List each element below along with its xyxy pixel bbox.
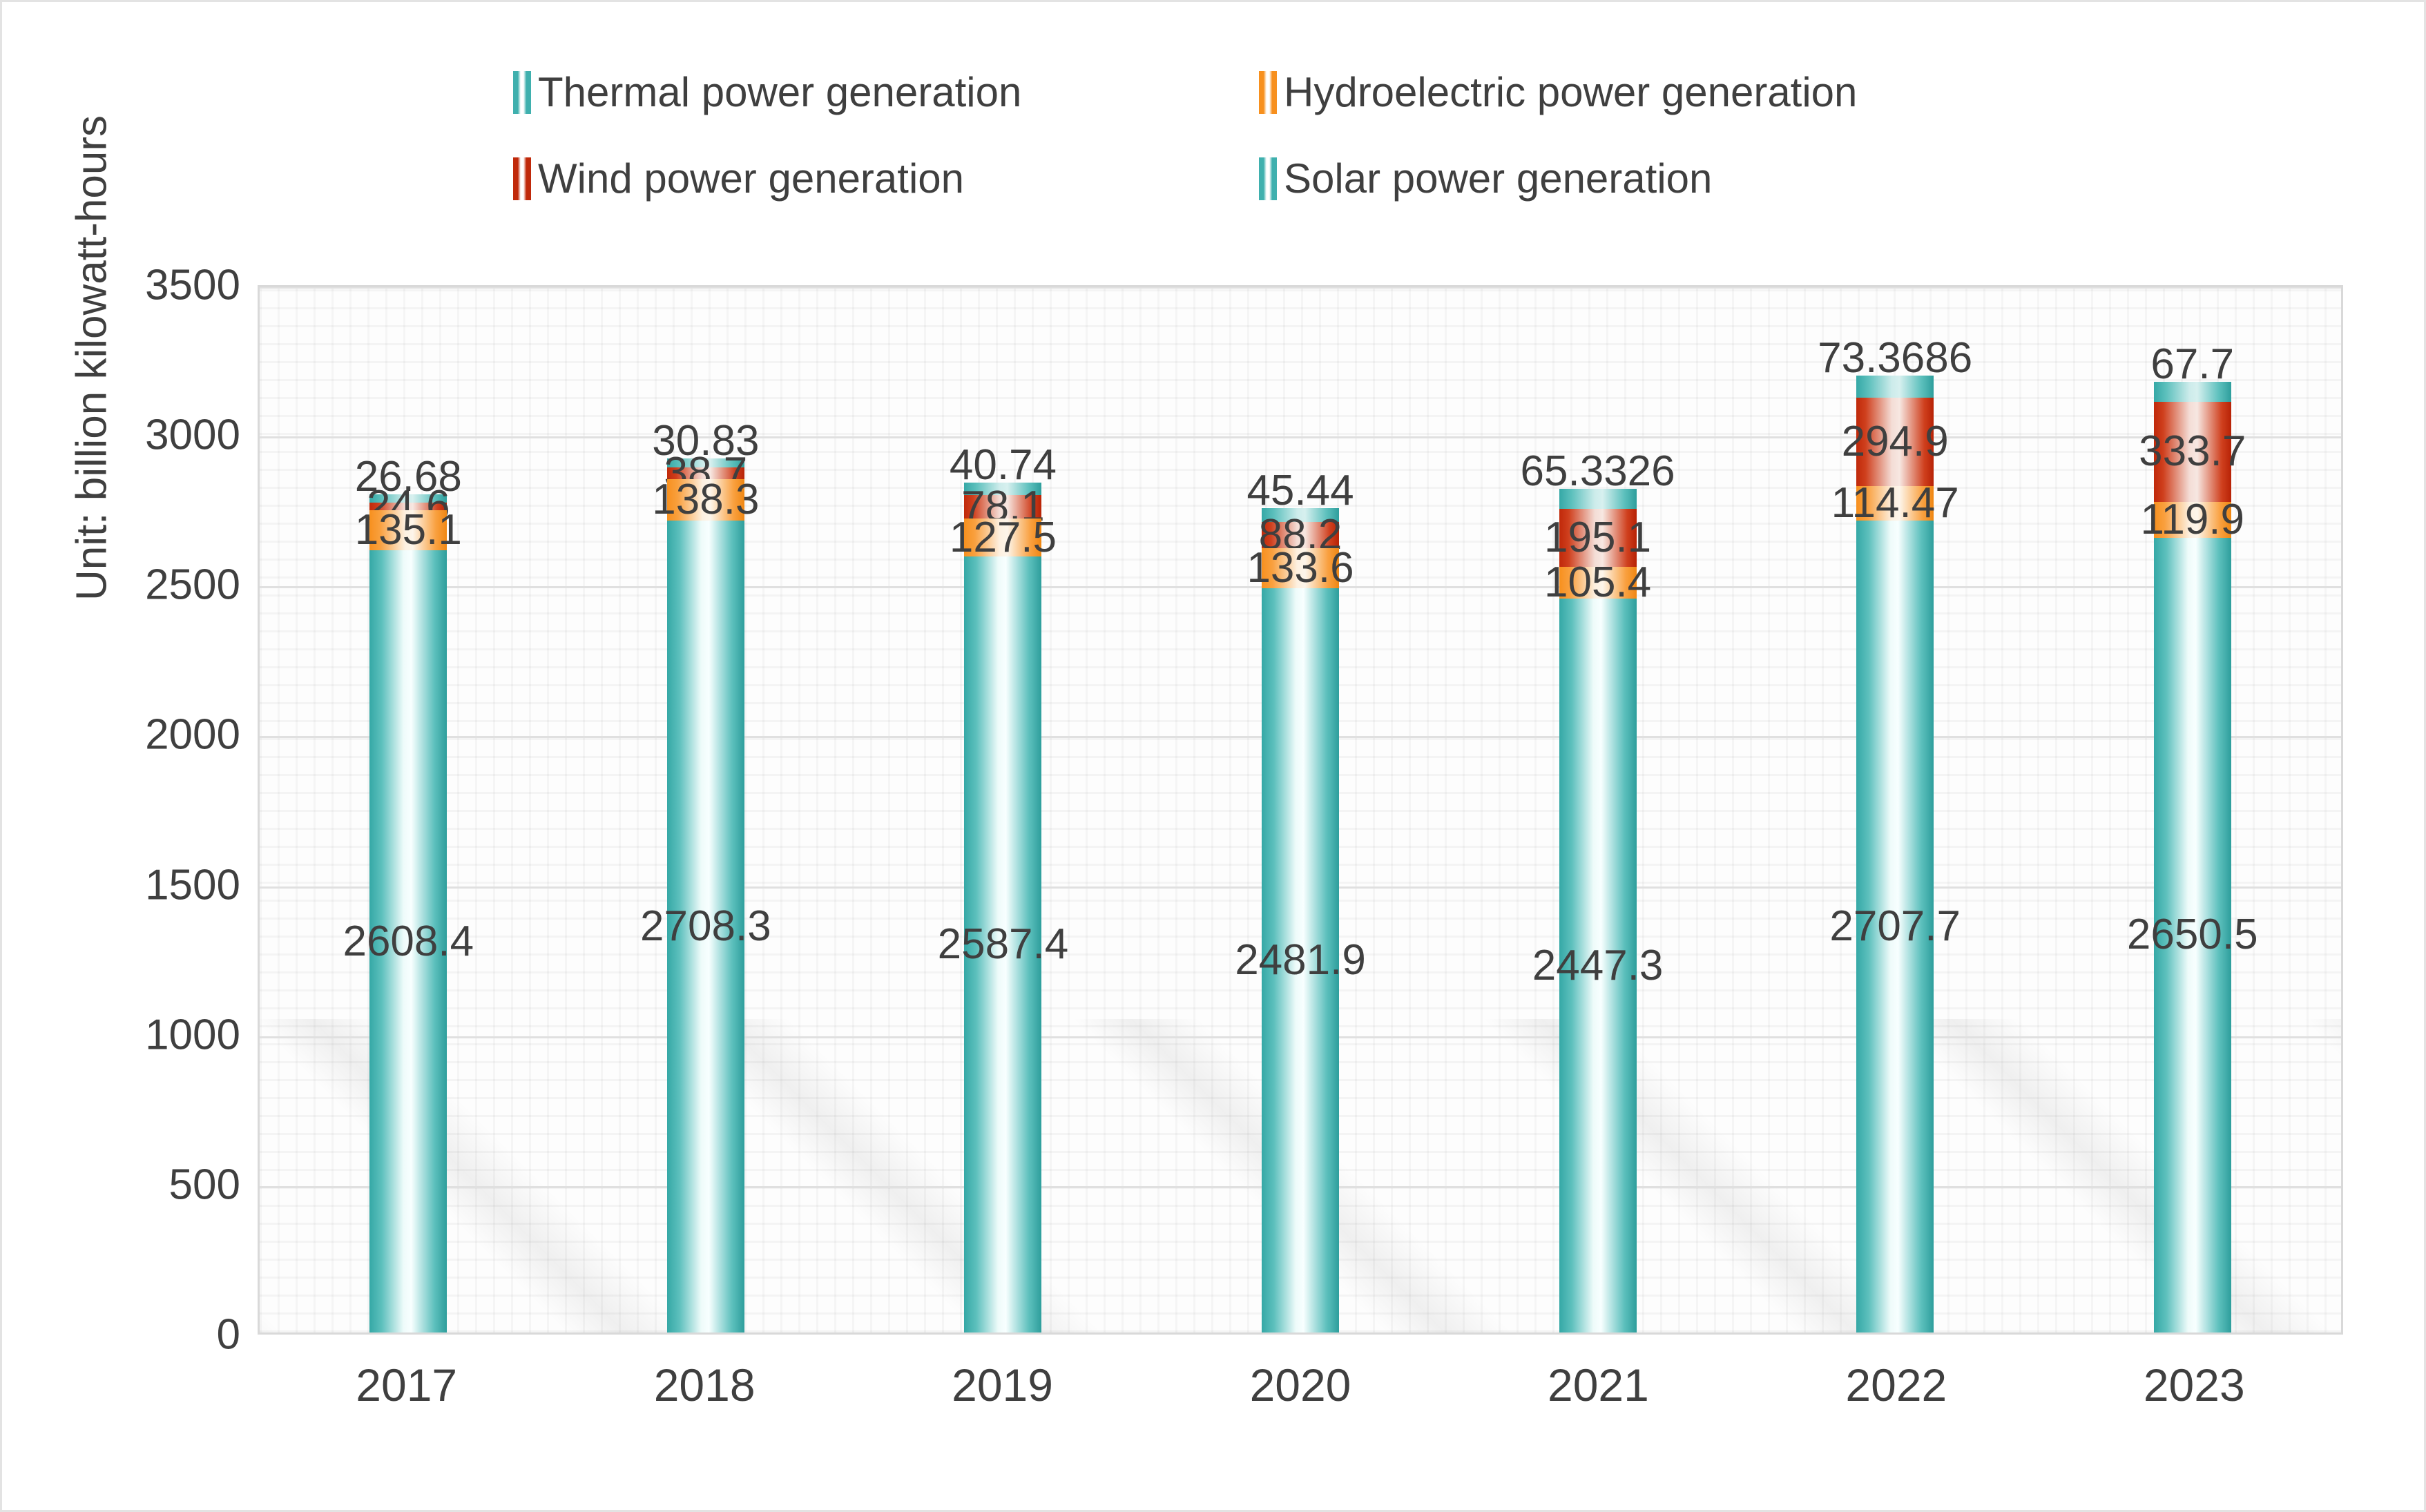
bar-segment-thermal-2023[interactable]: 2650.5 [2154,538,2231,1332]
bar-value-label-wind-2023: 333.7 [2139,430,2246,473]
bar-value-label-thermal-2019: 2587.4 [938,923,1069,966]
x-axis-tick-label-2022: 2022 [1747,1359,2045,1411]
bar-segment-solar-2022[interactable]: 73.3686 [1856,376,1934,398]
y-axis-tick-label: 3500 [33,261,240,310]
bar-value-label-hydroelectric-2018: 138.3 [652,478,759,521]
bar-segment-thermal-2022[interactable]: 2707.7 [1856,521,1934,1332]
legend-swatch-icon-hydroelectric [1259,71,1277,114]
bar-series-group: 26.6824.6135.12608.430.8338.7138.32708.3… [260,287,2341,1332]
legend-item-wind[interactable]: Wind power generation [513,157,1259,200]
bar-segment-thermal-2019[interactable]: 2587.4 [964,556,1041,1332]
y-axis-tick-label: 1500 [33,860,240,909]
bar-value-label-thermal-2023: 2650.5 [2127,913,2258,956]
bar-value-label-thermal-2022: 2707.7 [1829,905,1961,948]
bar-value-label-hydroelectric-2020: 133.6 [1246,547,1354,590]
bar-slot-2017: 26.6824.6135.12608.4 [260,287,557,1332]
x-axis-tick-label-2023: 2023 [2045,1359,2343,1411]
legend-item-thermal[interactable]: Thermal power generation [513,71,1259,114]
x-axis-tick-label-2021: 2021 [1450,1359,1747,1411]
y-axis-tick-label: 2000 [33,710,240,759]
bar-value-label-thermal-2021: 2447.3 [1532,944,1664,987]
bar-slot-2019: 40.7478.1127.52587.4 [854,287,1152,1332]
bar-segment-hydroelectric-2023[interactable]: 119.9 [2154,502,2231,538]
y-axis-tick-label: 500 [33,1160,240,1209]
bar-segment-solar-2021[interactable]: 65.3326 [1559,489,1637,508]
bar-stack-2018[interactable]: 30.8338.7138.32708.3 [667,458,744,1332]
bar-segment-hydroelectric-2022[interactable]: 114.47 [1856,486,1934,521]
bar-slot-2023: 67.7333.7119.92650.5 [2043,287,2341,1332]
bar-value-label-hydroelectric-2022: 114.47 [1831,482,1959,525]
legend-label-thermal: Thermal power generation [538,72,1021,113]
bar-segment-thermal-2017[interactable]: 2608.4 [369,550,447,1332]
legend-item-hydroelectric[interactable]: Hydroelectric power generation [1259,71,1977,114]
bar-value-label-thermal-2020: 2481.9 [1235,939,1366,982]
bar-value-label-solar-2020: 45.44 [1246,469,1354,512]
x-axis-tick-label-2020: 2020 [1151,1359,1449,1411]
chart-legend: Thermal power generation Hydroelectric p… [513,49,1977,222]
bar-stack-2021[interactable]: 65.3326195.1105.42447.3 [1559,489,1637,1332]
x-axis-tick-label-2018: 2018 [555,1359,853,1411]
plot-wrapper: 26.6824.6135.12608.430.8338.7138.32708.3… [258,285,2343,1335]
bar-segment-hydroelectric-2019[interactable]: 127.5 [964,518,1041,556]
bar-value-label-thermal-2017: 2608.4 [343,920,474,963]
y-axis-tick-label: 3000 [33,411,240,460]
x-axis-tick-label-2017: 2017 [258,1359,555,1411]
bar-segment-hydroelectric-2017[interactable]: 135.1 [369,510,447,551]
y-axis-tick-label: 2500 [33,561,240,610]
bar-stack-2023[interactable]: 67.7333.7119.92650.5 [2154,382,2231,1332]
x-axis-tick-label-2019: 2019 [854,1359,1151,1411]
legend-label-solar: Solar power generation [1284,158,1712,200]
bar-value-label-hydroelectric-2019: 127.5 [950,516,1057,559]
bar-slot-2018: 30.8338.7138.32708.3 [557,287,855,1332]
bar-value-label-solar-2022: 73.3686 [1818,337,1972,380]
bar-segment-solar-2023[interactable]: 67.7 [2154,382,2231,402]
bar-value-label-hydroelectric-2017: 135.1 [355,509,462,552]
y-axis-tick-label: 1000 [33,1010,240,1059]
bar-stack-2022[interactable]: 73.3686294.9114.472707.7 [1856,376,1934,1332]
x-axis-tick-labels: 2017201820192020202120222023 [258,1359,2343,1411]
bar-value-label-hydroelectric-2023: 119.9 [2140,498,2244,541]
legend-label-wind: Wind power generation [538,158,964,200]
bar-value-label-hydroelectric-2021: 105.4 [1544,561,1651,604]
bar-slot-2022: 73.3686294.9114.472707.7 [1746,287,2044,1332]
bar-slot-2021: 65.3326195.1105.42447.3 [1449,287,1746,1332]
bar-stack-2019[interactable]: 40.7478.1127.52587.4 [964,483,1041,1332]
bar-value-label-solar-2023: 67.7 [2150,343,2234,386]
bar-slot-2020: 45.4488.2133.62481.9 [1152,287,1450,1332]
plot-area: 26.6824.6135.12608.430.8338.7138.32708.3… [258,285,2343,1335]
bar-segment-wind-2023[interactable]: 333.7 [2154,402,2231,502]
legend-swatch-icon-solar [1259,157,1277,200]
bar-segment-hydroelectric-2018[interactable]: 138.3 [667,479,744,521]
legend-swatch-icon-wind [513,157,531,200]
chart-figure: Thermal power generation Hydroelectric p… [0,0,2426,1512]
bar-segment-hydroelectric-2021[interactable]: 105.4 [1559,567,1637,599]
bar-value-label-thermal-2018: 2708.3 [640,905,771,948]
bar-value-label-wind-2021: 195.1 [1544,516,1651,559]
legend-item-solar[interactable]: Solar power generation [1259,157,1977,200]
bar-stack-2017[interactable]: 26.6824.6135.12608.4 [369,494,447,1332]
bar-segment-thermal-2021[interactable]: 2447.3 [1559,599,1637,1332]
bar-segment-thermal-2020[interactable]: 2481.9 [1262,588,1339,1332]
legend-swatch-icon-thermal [513,71,531,114]
legend-label-hydroelectric: Hydroelectric power generation [1284,72,1857,113]
bar-value-label-solar-2021: 65.3326 [1521,450,1675,493]
bar-value-label-wind-2022: 294.9 [1842,420,1949,463]
bar-value-label-solar-2019: 40.74 [950,444,1057,487]
y-axis-tick-label: 0 [33,1310,240,1359]
bar-segment-wind-2022[interactable]: 294.9 [1856,398,1934,486]
bar-stack-2020[interactable]: 45.4488.2133.62481.9 [1262,508,1339,1332]
bar-segment-thermal-2018[interactable]: 2708.3 [667,521,744,1332]
bar-segment-hydroelectric-2020[interactable]: 133.6 [1262,548,1339,588]
